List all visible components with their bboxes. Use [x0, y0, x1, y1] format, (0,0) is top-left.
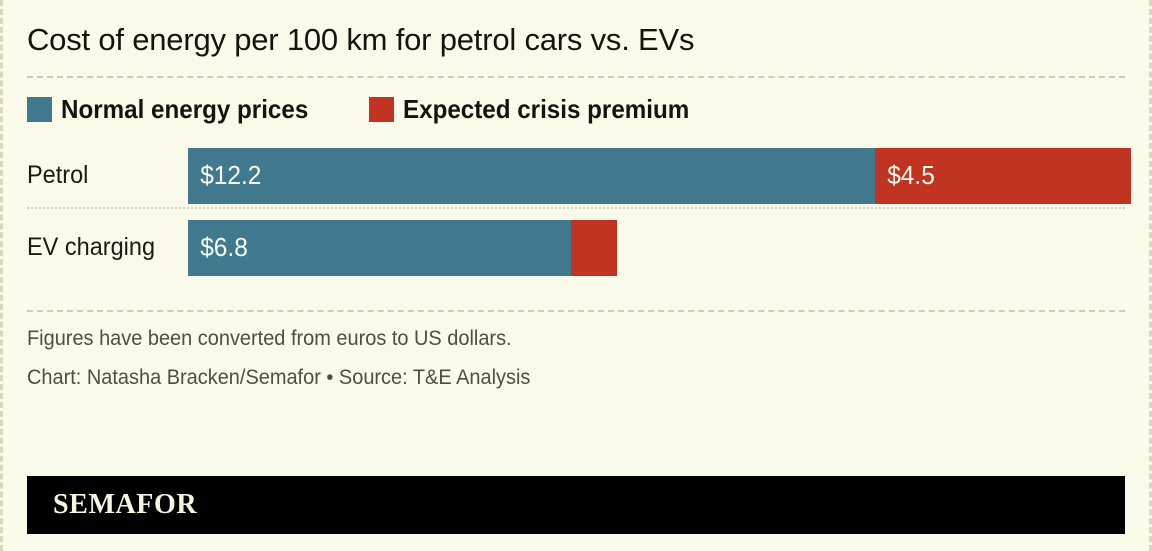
bar-track-ev-charging: $6.8 [188, 220, 617, 276]
divider-between-bars [27, 207, 1125, 209]
bar-segment-petrol-premium[interactable]: $4.5 [875, 148, 1131, 204]
bar-value-petrol-premium: $4.5 [875, 160, 935, 191]
bar-segment-ev-normal[interactable]: $6.8 [188, 220, 571, 276]
semafor-logo: SEMAFOR [53, 489, 197, 521]
bar-value-petrol-normal: $12.2 [188, 160, 261, 191]
brand-bar: SEMAFOR [27, 476, 1125, 534]
chart-legend: Normal energy prices Expected crisis pre… [3, 78, 1149, 137]
legend-item-normal-energy-prices[interactable]: Normal energy prices [27, 94, 327, 125]
chart-card: Cost of energy per 100 km for petrol car… [0, 0, 1152, 551]
footnote-conversion: Figures have been converted from euros t… [27, 328, 1070, 349]
bar-value-ev-normal: $6.8 [188, 232, 248, 263]
plot-area: Petrol $12.2 $4.5 EV charging $6.8 [3, 145, 1149, 279]
category-label-petrol: Petrol [27, 161, 178, 190]
legend-item-expected-crisis-premium[interactable]: Expected crisis premium [369, 94, 711, 125]
footnote-credit-source: Chart: Natasha Bracken/Semafor • Source:… [27, 367, 1070, 388]
legend-swatch-icon-normal [27, 97, 52, 122]
legend-swatch-icon-premium [369, 97, 394, 122]
legend-label-premium: Expected crisis premium [403, 94, 689, 125]
bar-track-petrol: $12.2 $4.5 [188, 148, 1131, 204]
bar-segment-ev-premium[interactable] [571, 220, 617, 276]
category-label-ev-charging: EV charging [27, 233, 178, 262]
bar-row-petrol: Petrol $12.2 $4.5 [3, 145, 1149, 207]
title-block: Cost of energy per 100 km for petrol car… [3, 0, 1149, 58]
legend-label-normal: Normal energy prices [61, 94, 308, 125]
footnotes: Figures have been converted from euros t… [3, 312, 1149, 388]
page-title: Cost of energy per 100 km for petrol car… [27, 22, 1125, 58]
bar-segment-petrol-normal[interactable]: $12.2 [188, 148, 875, 204]
bar-row-ev-charging: EV charging $6.8 [3, 217, 1149, 279]
